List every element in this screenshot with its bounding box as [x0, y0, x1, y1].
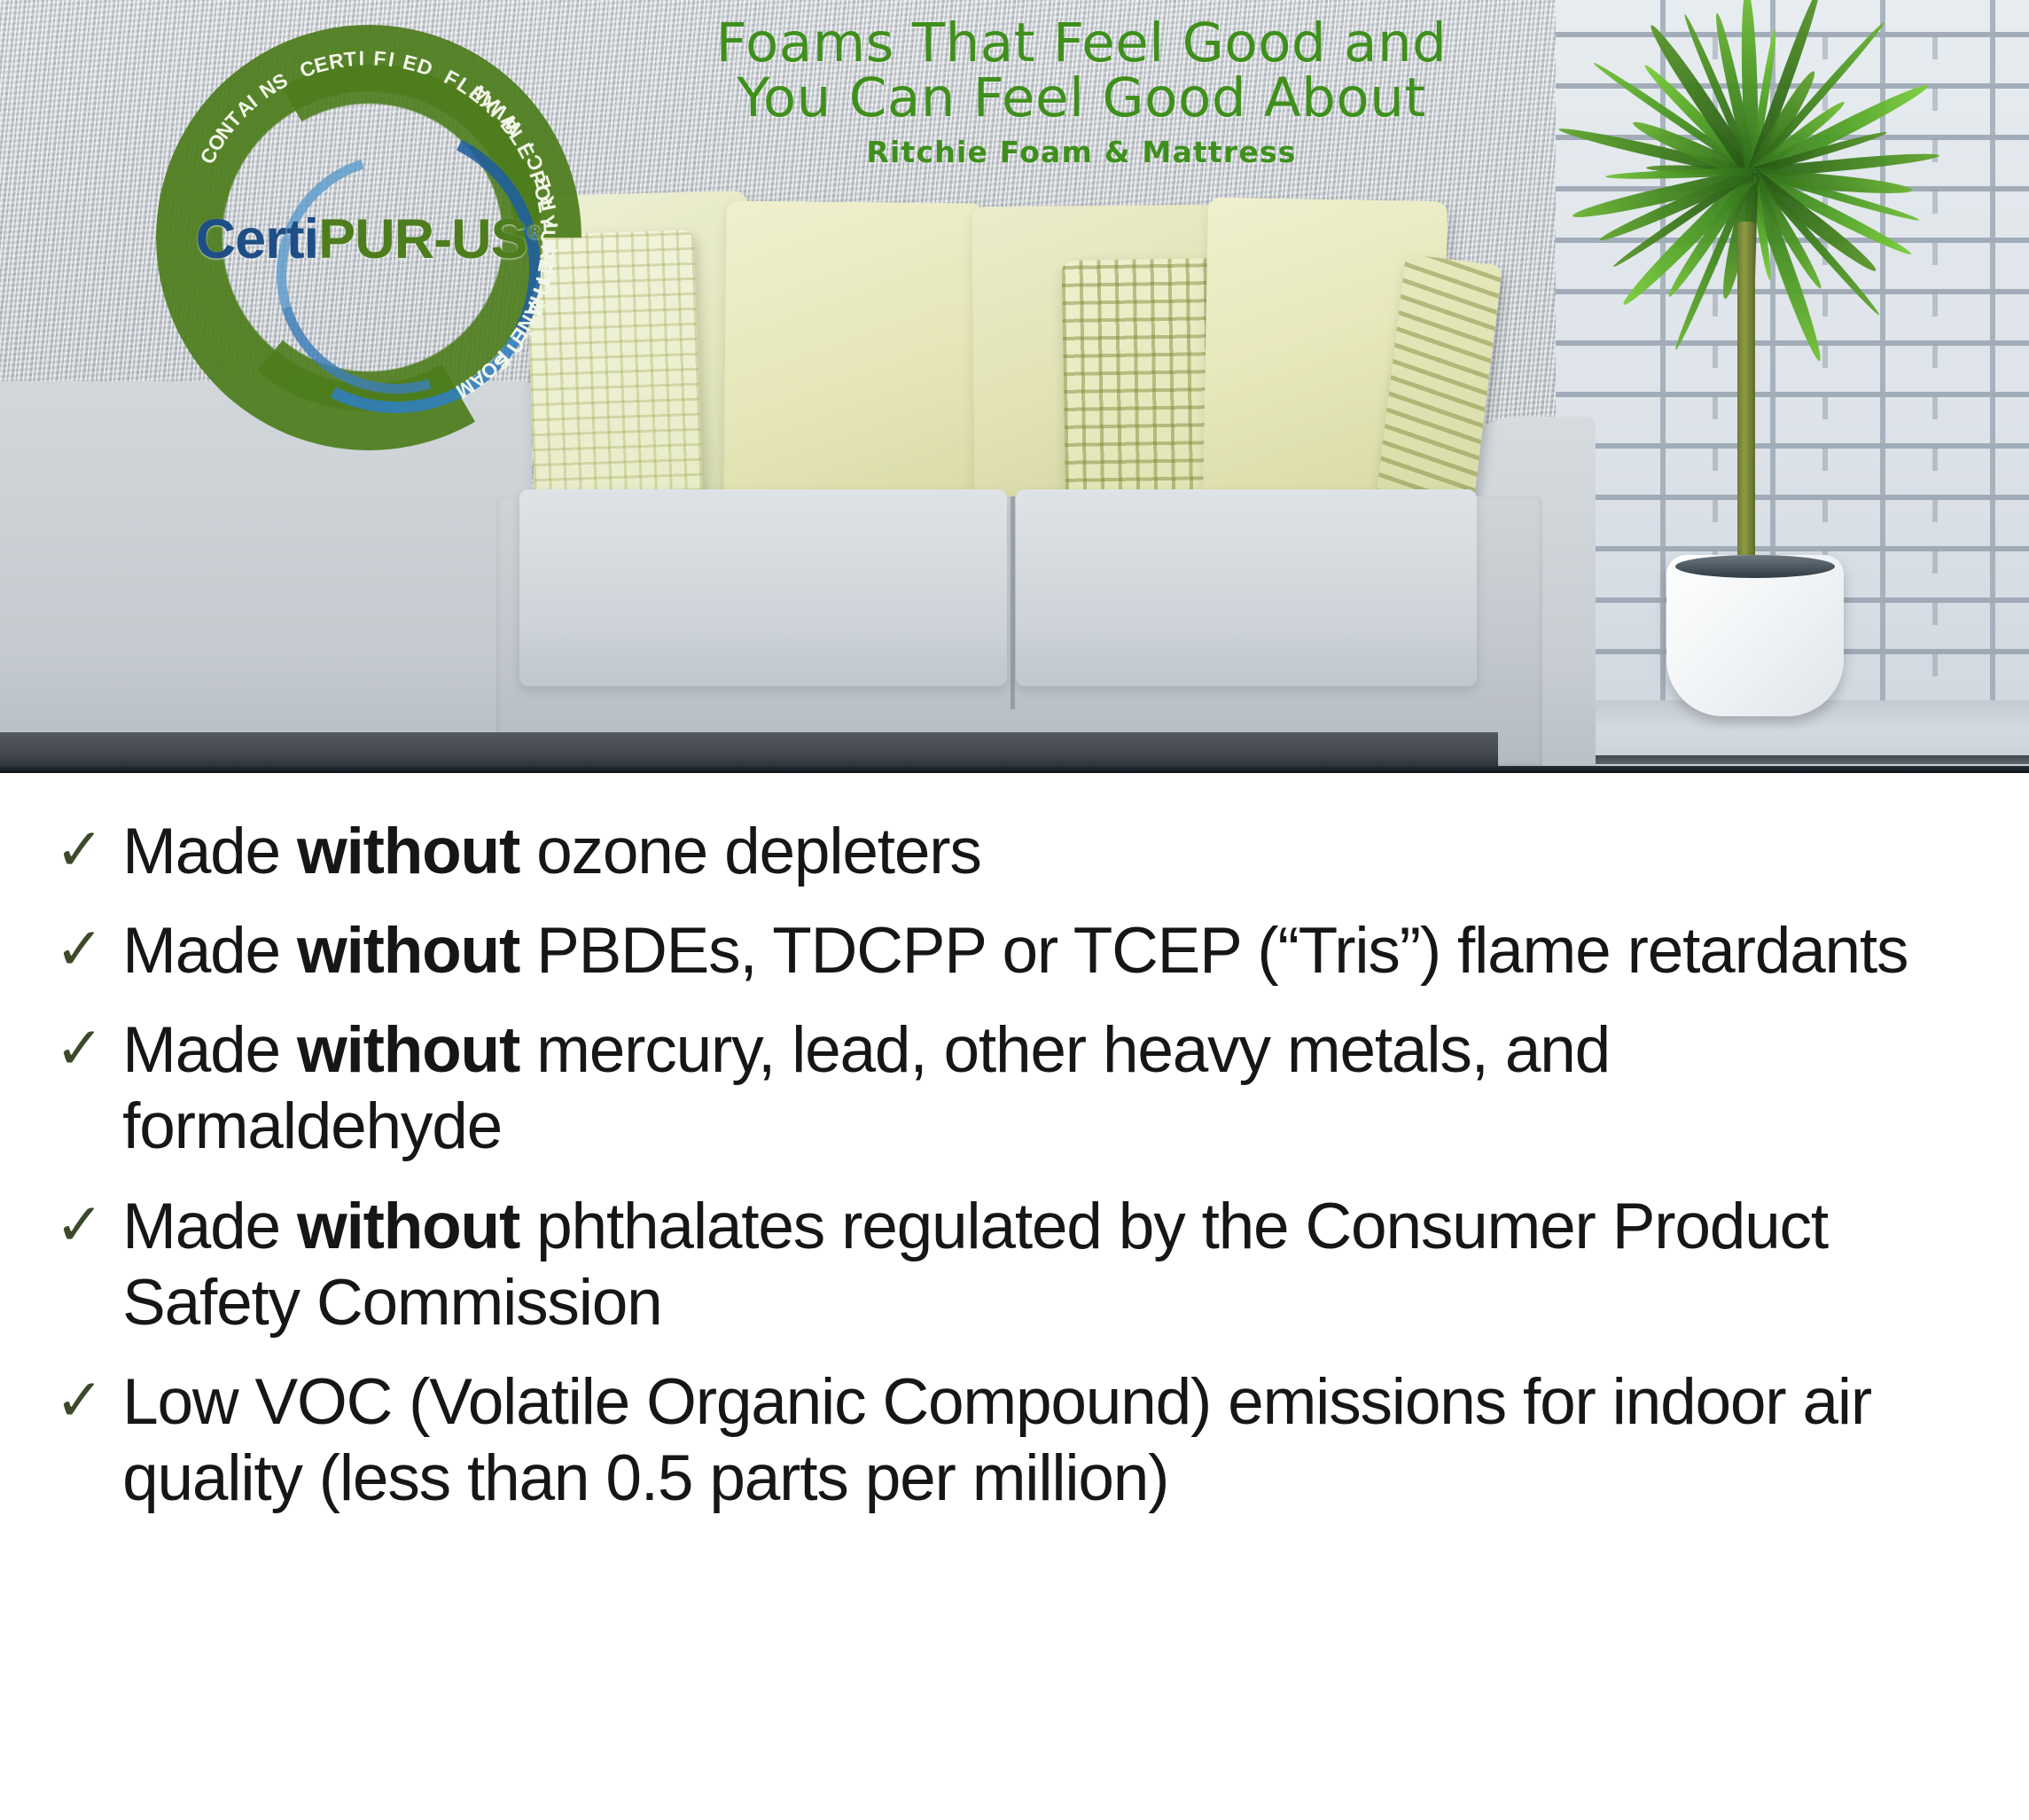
claim-emphasis: without — [297, 915, 519, 987]
seal-wordmark: CertiPUR-US® — [156, 207, 581, 271]
seal-arc-char: U — [531, 277, 558, 298]
claim-item: ✓Made without phthalates regulated by th… — [55, 1189, 1974, 1341]
seal-arc-char: U — [502, 332, 530, 358]
seal-arc-char: R — [523, 296, 551, 319]
throw-pillow-2 — [723, 200, 984, 509]
claim-item: ✓Made without ozone depleters — [55, 814, 1974, 890]
seal-wordmark-blue: Certi — [196, 208, 319, 270]
banner-bottom-rule — [0, 766, 2029, 773]
seal-registered-mark: ® — [527, 220, 542, 244]
claim-item: ✓Made without PBDEs, TDCPP or TCEP (“Tri… — [55, 913, 1974, 989]
claim-emphasis: without — [297, 1191, 519, 1262]
check-icon: ✓ — [55, 1189, 103, 1261]
claim-text: Made without PBDEs, TDCPP or TCEP (“Tris… — [122, 913, 1974, 989]
palm-trunk — [1737, 222, 1755, 567]
claim-item: ✓Low VOC (Volatile Organic Compound) emi… — [55, 1364, 1974, 1517]
sofa-cushion-seam — [1011, 496, 1015, 709]
check-icon: ✓ — [55, 1012, 103, 1084]
check-icon: ✓ — [55, 913, 103, 985]
seal-arc-char: E — [529, 172, 557, 193]
certipur-us-seal-icon: CONTAINS CERTIFIED FLEXIBLE POLYURETHANE… — [156, 25, 581, 450]
check-icon: ✓ — [55, 814, 103, 886]
claim-emphasis: without — [297, 816, 519, 887]
plant-pot — [1666, 555, 1844, 716]
check-icon: ✓ — [55, 1364, 103, 1436]
claim-text: Low VOC (Volatile Organic Compound) emis… — [122, 1364, 1974, 1517]
sofa-cushion-right — [1016, 489, 1477, 686]
sofa-cushion-left — [519, 489, 1007, 686]
seal-wordmark-green: PUR-US — [318, 208, 527, 270]
seal-arc-char: S — [488, 348, 516, 375]
claim-emphasis: without — [297, 1014, 519, 1086]
certification-claims-list: ✓Made without ozone depleters✓Made witho… — [0, 773, 2029, 1820]
claim-text: Made without phthalates regulated by the… — [122, 1189, 1974, 1341]
claim-text: Made without mercury, lead, other heavy … — [122, 1012, 1974, 1165]
seal-arc-char: C — [521, 150, 550, 174]
baseboard — [0, 732, 1498, 768]
claim-text: Made without ozone depleters — [122, 814, 1974, 890]
plant-pot-soil — [1675, 555, 1835, 578]
hero-photo-banner: CONTAINS CERTIFIED FLEXIBLE POLYURETHANE… — [0, 0, 2029, 773]
claim-item: ✓Made without mercury, lead, other heavy… — [55, 1012, 1974, 1165]
